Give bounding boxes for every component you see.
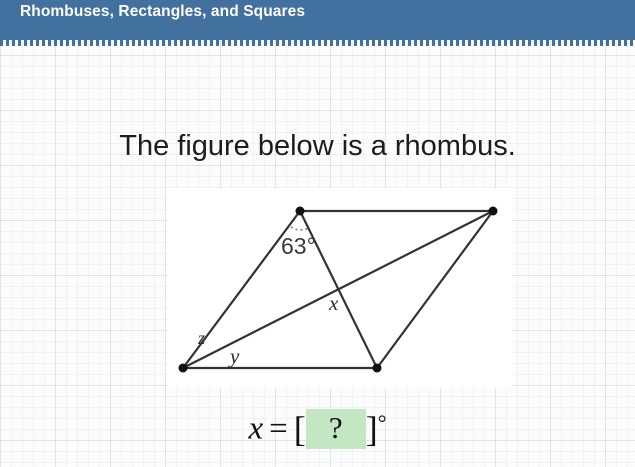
answer-expression: x=[?]°: [0, 408, 635, 450]
angle-label-z: z: [197, 328, 205, 348]
figure-panel: 63° x y z: [167, 188, 512, 388]
answer-close-bracket: ]: [366, 409, 378, 449]
answer-variable: x: [248, 411, 263, 447]
answer-open-bracket: [: [294, 409, 306, 449]
vertex-dot-bottom-left: [179, 364, 188, 373]
angle-label-x: x: [328, 291, 339, 315]
angle-label-63: 63°: [281, 233, 316, 259]
page-title: Rhombuses, Rectangles, and Squares: [20, 3, 305, 21]
vertex-dot-top-right: [489, 207, 498, 216]
angle-label-y: y: [228, 344, 240, 368]
page-header-bar: Rhombuses, Rectangles, and Squares: [0, 0, 635, 40]
question-prompt: The figure below is a rhombus.: [0, 130, 635, 163]
header-scalloped-edge: [0, 39, 635, 46]
vertex-dot-top-left: [296, 207, 305, 216]
vertex-dot-bottom-right: [373, 364, 382, 373]
answer-equals-sign: =: [269, 411, 288, 447]
rhombus-diagram: 63° x y z: [167, 188, 512, 388]
answer-input-blank[interactable]: ?: [306, 409, 366, 449]
answer-degree-symbol: °: [378, 410, 387, 435]
